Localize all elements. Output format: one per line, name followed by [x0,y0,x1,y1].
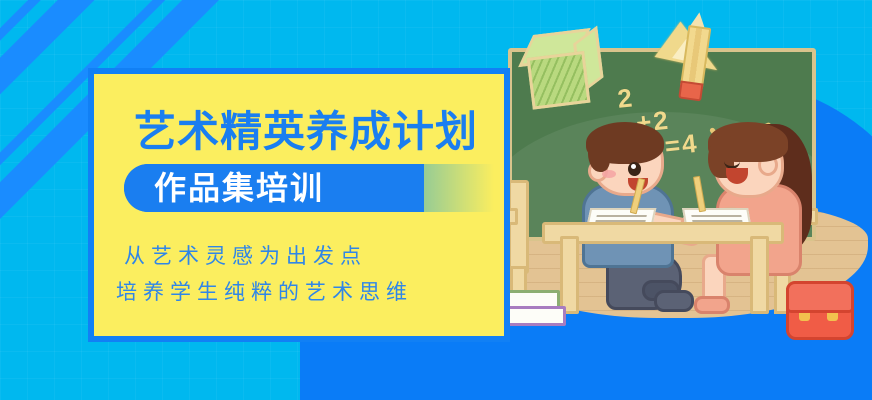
backpack-icon [786,282,854,340]
boy-eye [628,162,641,176]
cube-sketch-icon [516,27,604,108]
pill-label: 作品集培训 [154,164,324,212]
promo-banner: 2 +2 =4 5-1 [0,0,872,400]
desk-leg-right [750,236,769,314]
paper-right-line-1 [691,215,741,217]
paper-left-line-1 [597,215,647,217]
backpack-clasp-left [799,313,810,321]
boy-hair-side [588,138,610,172]
boy-blush [602,170,616,178]
desk-leg-left [560,236,579,314]
boy-shoe-front [654,290,694,312]
content-panel: 艺术精英养成计划 作品集培训 从艺术灵感为出发点 培养学生纯粹的艺术思维 [88,68,510,342]
classroom-illustration: 2 +2 =4 5-1 [468,0,872,340]
pencil-eraser [678,80,703,101]
pill-banner: 作品集培训 [124,164,494,212]
subtitle-line-2: 培养学生纯粹的艺术思维 [116,276,413,306]
cube-front-face [527,51,591,110]
girl-shoe [694,296,730,314]
backpack-clasp-right [827,313,838,321]
subtitle-line-1: 从艺术灵感为出发点 [124,240,367,270]
chair-left-back [508,180,529,274]
headline-title: 艺术精英养成计划 [134,98,478,159]
backpack-flap [786,281,854,313]
